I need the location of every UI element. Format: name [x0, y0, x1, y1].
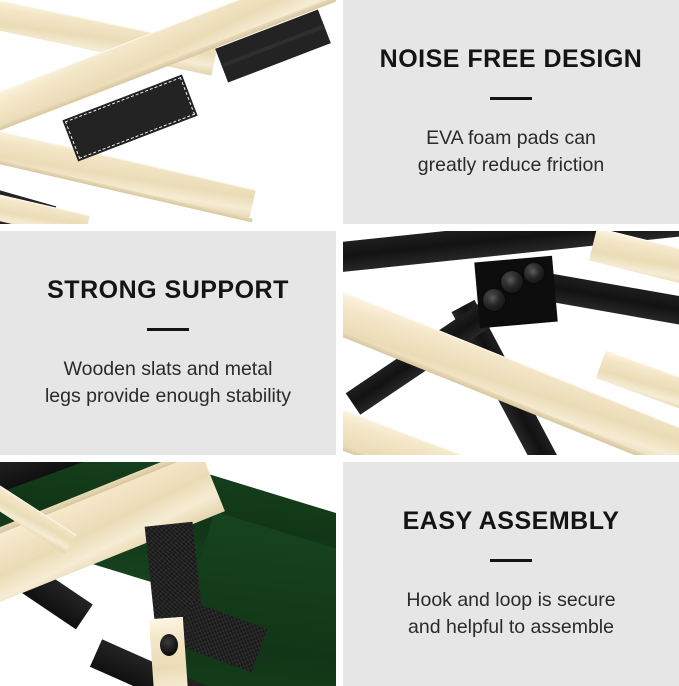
photo-metal-frame-junction — [343, 231, 679, 455]
panel-body: Wooden slats and metal legs provide enou… — [45, 356, 291, 410]
panel-body-line-1: Hook and loop is secure — [406, 589, 615, 611]
bolt-head — [506, 276, 517, 287]
feature-easy-assembly: EASY ASSEMBLY Hook and loop is secure an… — [343, 462, 679, 686]
panel-body-line-1: Wooden slats and metal — [64, 358, 273, 380]
heading-divider — [147, 328, 189, 331]
panel-body-line-1: EVA foam pads can — [426, 127, 596, 149]
panel-body-line-2: and helpful to assemble — [408, 616, 614, 638]
panel-heading: EASY ASSEMBLY — [403, 507, 620, 536]
heading-divider — [490, 97, 532, 100]
panel-heading: NOISE FREE DESIGN — [380, 45, 643, 74]
heading-divider — [490, 559, 532, 562]
screw-hole — [160, 634, 178, 656]
panel-body: Hook and loop is secure and helpful to a… — [406, 587, 615, 641]
panel-body-line-2: legs provide enough stability — [45, 385, 291, 407]
panel-body-line-2: greatly reduce friction — [418, 154, 604, 176]
photo-eva-foam-pads — [0, 0, 336, 224]
product-feature-infographic: NOISE FREE DESIGN EVA foam pads can grea… — [0, 0, 679, 679]
photo-hook-and-loop — [0, 462, 336, 686]
bolt-head — [488, 294, 499, 305]
panel-heading: STRONG SUPPORT — [47, 276, 289, 305]
panel-body: EVA foam pads can greatly reduce frictio… — [418, 125, 604, 179]
feature-strong-support: STRONG SUPPORT Wooden slats and metal le… — [0, 231, 336, 455]
bolt-head — [529, 268, 539, 278]
feature-noise-free-design: NOISE FREE DESIGN EVA foam pads can grea… — [343, 0, 679, 224]
